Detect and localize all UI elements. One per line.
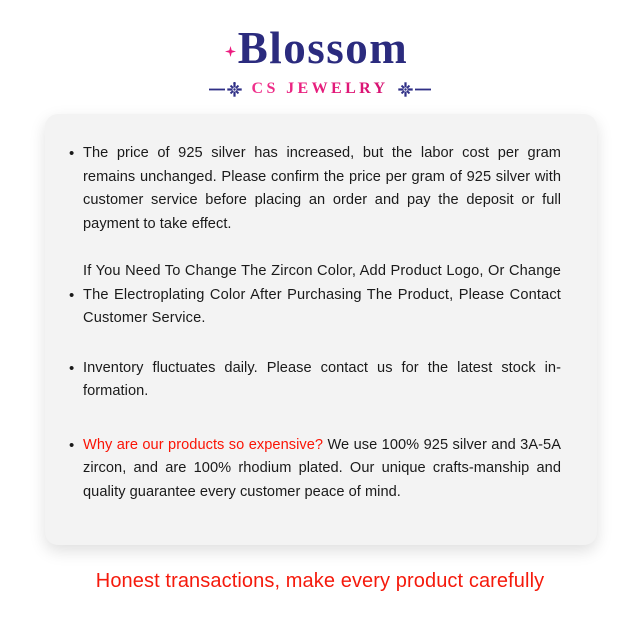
ornament-flourish-right-icon — [397, 82, 431, 97]
bullet-icon: • — [69, 434, 83, 457]
notice-text-price: The price of 925 silver has increased, b… — [83, 142, 561, 236]
notice-text-pricing-explanation: Why are our products so expensive? We us… — [83, 434, 561, 505]
brand-header: Blossom CS JEWELRY — [0, 0, 640, 98]
brand-name-text: Blossom — [238, 23, 409, 73]
list-item: • If You Need To Change The Zircon Color… — [69, 260, 561, 331]
bullet-icon: • — [69, 357, 83, 380]
list-item: • Why are our products so expensive? We … — [69, 434, 561, 505]
brand-subtitle-row: CS JEWELRY — [0, 80, 640, 98]
bullet-icon: • — [69, 284, 83, 307]
list-item: • The price of 925 silver has increased,… — [69, 142, 561, 236]
bullet-icon: • — [69, 142, 83, 165]
notice-card: • The price of 925 silver has increased,… — [45, 114, 597, 545]
ornament-flourish-left-icon — [209, 82, 243, 97]
notice-list: • The price of 925 silver has increased,… — [69, 142, 561, 504]
footer-tagline: Honest transactions, make every product … — [0, 570, 640, 593]
diamond-sparkle-icon — [225, 46, 236, 57]
brand-subtitle-text: CS JEWELRY — [251, 80, 388, 98]
notice-text-inventory: Inventory fluctuates daily. Please conta… — [83, 357, 561, 404]
list-item: • Inventory fluctuates daily. Please con… — [69, 357, 561, 404]
notice-highlight-question: Why are our products so expensive? — [83, 437, 323, 453]
brand-name: Blossom — [232, 26, 409, 71]
notice-text-customization: If You Need To Change The Zircon Color, … — [83, 260, 561, 331]
